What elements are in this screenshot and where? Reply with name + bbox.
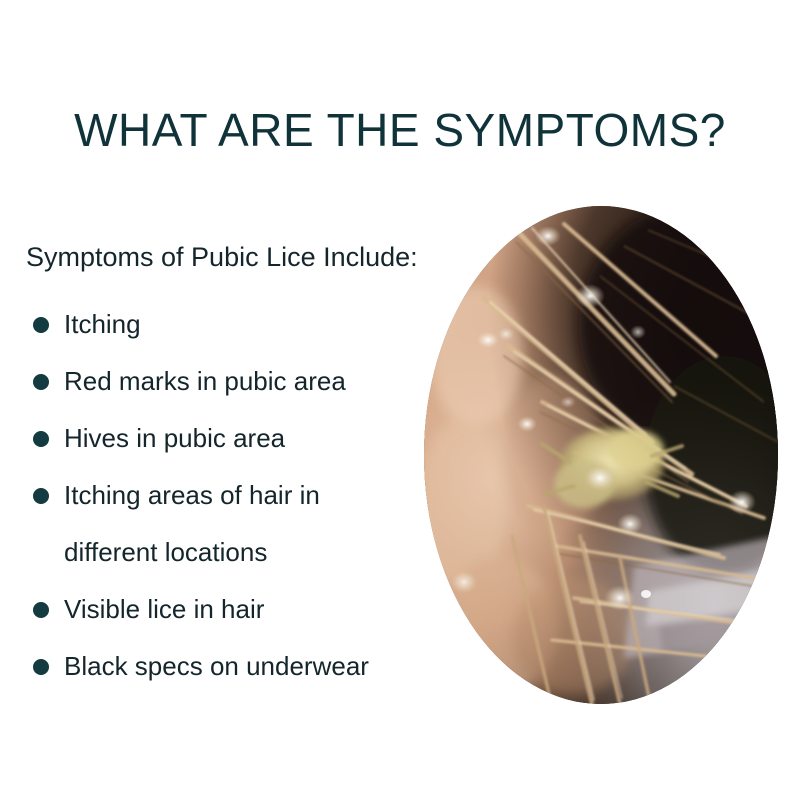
- bullet-dot-icon: [33, 431, 49, 447]
- list-item: Itching areas of hair in different locat…: [26, 467, 446, 581]
- bullet-dot-icon: [33, 602, 49, 618]
- bullet-dot-icon: [33, 374, 49, 390]
- list-item-label: Black specs on underwear: [64, 638, 446, 695]
- bullet-dot-icon: [33, 488, 49, 504]
- list-item-label: Hives in pubic area: [64, 410, 446, 467]
- symptoms-intro-text: Symptoms of Pubic Lice Include:: [26, 240, 446, 274]
- list-item-label: Itching: [64, 296, 446, 353]
- list-item: Hives in pubic area: [26, 410, 446, 467]
- list-item-label: Red marks in pubic area: [64, 353, 446, 410]
- page-title: WHAT ARE THE SYMPTOMS?: [0, 103, 800, 157]
- bullet-dot-icon: [33, 317, 49, 333]
- symptoms-list: Itching Red marks in pubic area Hives in…: [26, 296, 446, 695]
- list-item: Red marks in pubic area: [26, 353, 446, 410]
- lice-photo-artwork: [424, 206, 778, 704]
- infographic-slide: WHAT ARE THE SYMPTOMS? Symptoms of Pubic…: [0, 0, 800, 800]
- list-item-label: Itching areas of hair in different locat…: [64, 467, 364, 581]
- lice-macro-photo: [424, 206, 778, 704]
- list-item: Black specs on underwear: [26, 638, 446, 695]
- bullet-dot-icon: [33, 659, 49, 675]
- list-item: Itching: [26, 296, 446, 353]
- symptoms-panel: Symptoms of Pubic Lice Include: Itching …: [26, 240, 446, 695]
- list-item-label: Visible lice in hair: [64, 581, 446, 638]
- list-item: Visible lice in hair: [26, 581, 446, 638]
